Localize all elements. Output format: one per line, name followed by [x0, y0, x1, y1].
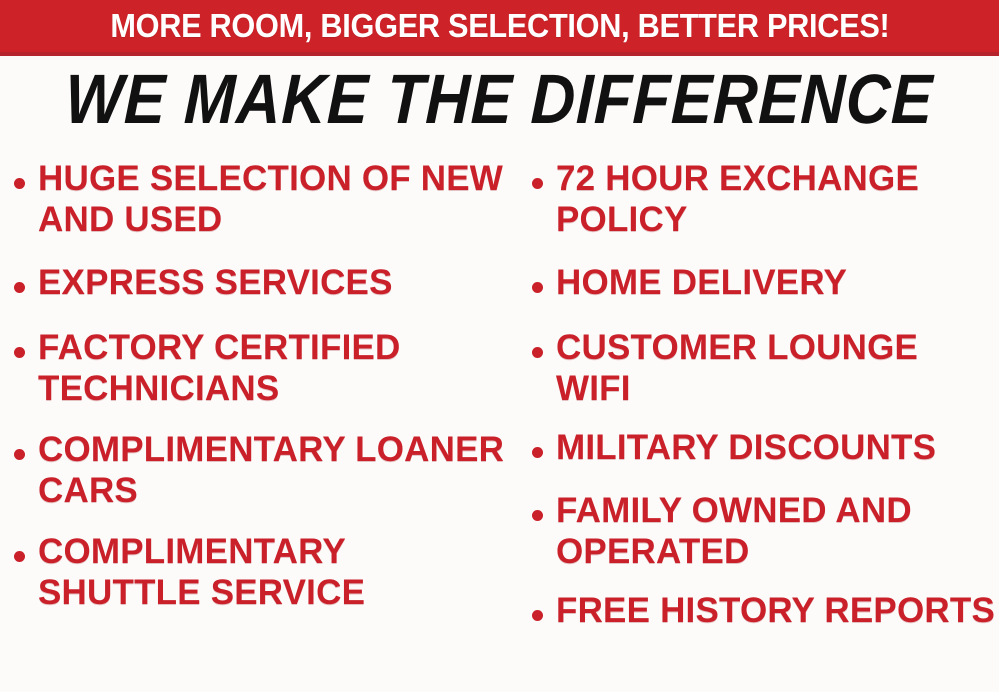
list-item: COMPLIMENTARY LOANER CARS: [14, 429, 512, 511]
top-promo-banner-text: MORE ROOM, BIGGER SELECTION, BETTER PRIC…: [110, 9, 889, 44]
bullet-dot-icon: [532, 282, 543, 293]
bullet-dot-icon: [14, 282, 25, 293]
headline: WE MAKE THE DIFFERENCE: [0, 62, 999, 136]
list-item: COMPLIMENTARY SHUTTLE SERVICE: [14, 531, 512, 613]
bullet-dot-icon: [14, 178, 25, 189]
features-column-left: HUGE SELECTION OF NEW AND USED EXPRESS S…: [0, 158, 512, 639]
list-item: FAMILY OWNED AND OPERATED: [532, 490, 999, 572]
list-item-label: FAMILY OWNED AND OPERATED: [556, 490, 999, 572]
bullet-dot-icon: [532, 610, 543, 621]
headline-text: WE MAKE THE DIFFERENCE: [64, 62, 934, 136]
list-item: EXPRESS SERVICES: [14, 262, 512, 303]
bullet-dot-icon: [14, 551, 25, 562]
list-item-label: CUSTOMER LOUNGE WIFI: [556, 327, 999, 409]
bullet-dot-icon: [532, 510, 543, 521]
bullet-dot-icon: [14, 449, 25, 460]
list-item-label: EXPRESS SERVICES: [38, 262, 393, 303]
list-item: FACTORY CERTIFIED TECHNICIANS: [14, 327, 512, 409]
list-item-label: COMPLIMENTARY SHUTTLE SERVICE: [38, 531, 512, 613]
list-item-label: 72 HOUR EXCHANGE POLICY: [556, 158, 999, 240]
bullet-dot-icon: [532, 447, 543, 458]
features-columns: HUGE SELECTION OF NEW AND USED EXPRESS S…: [0, 158, 999, 692]
list-item-label: COMPLIMENTARY LOANER CARS: [38, 429, 512, 511]
bullet-dot-icon: [532, 347, 543, 358]
top-promo-banner: MORE ROOM, BIGGER SELECTION, BETTER PRIC…: [0, 0, 999, 56]
list-item: 72 HOUR EXCHANGE POLICY: [532, 158, 999, 240]
advertisement-banner: MORE ROOM, BIGGER SELECTION, BETTER PRIC…: [0, 0, 999, 692]
features-column-right: 72 HOUR EXCHANGE POLICY HOME DELIVERY CU…: [512, 158, 999, 657]
bullet-dot-icon: [14, 347, 25, 358]
list-item: CUSTOMER LOUNGE WIFI: [532, 327, 999, 409]
list-item: HOME DELIVERY: [532, 262, 999, 303]
list-item: HUGE SELECTION OF NEW AND USED: [14, 158, 512, 240]
list-item-label: HOME DELIVERY: [556, 262, 847, 303]
list-item-label: FACTORY CERTIFIED TECHNICIANS: [38, 327, 512, 409]
list-item: MILITARY DISCOUNTS: [532, 427, 999, 468]
bullet-dot-icon: [532, 178, 543, 189]
list-item-label: HUGE SELECTION OF NEW AND USED: [38, 158, 512, 240]
list-item-label: FREE HISTORY REPORTS: [556, 590, 995, 631]
list-item-label: MILITARY DISCOUNTS: [556, 427, 936, 468]
list-item: FREE HISTORY REPORTS: [532, 590, 999, 631]
